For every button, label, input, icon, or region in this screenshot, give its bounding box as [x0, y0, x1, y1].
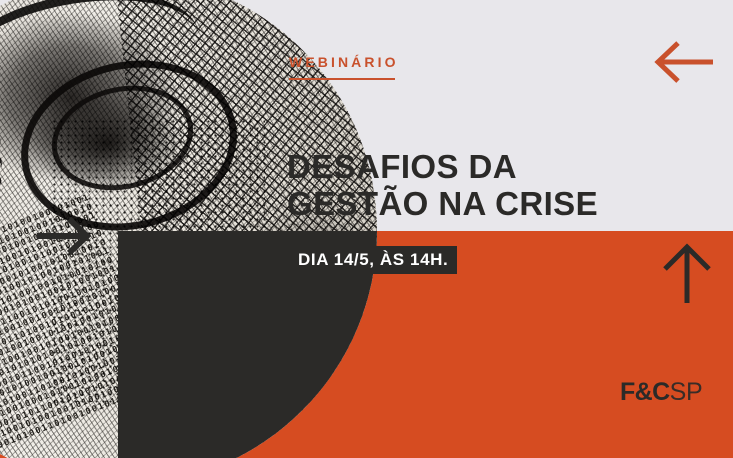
eyebrow-underline [289, 78, 395, 80]
charcoal-color-block-left [118, 231, 218, 458]
arrow-up-icon[interactable] [658, 243, 716, 305]
eyebrow-label: WEBINÁRIO [289, 53, 399, 71]
arrow-right-icon [36, 214, 94, 258]
poster-canvas: 0100101001001010010100100101001001010010… [0, 0, 733, 458]
brand-logo-secondary: SP [670, 378, 703, 406]
date-badge: DIA 14/5, ÀS 14H. [289, 246, 457, 274]
brand-logo: F&CSP [620, 378, 702, 406]
page-title: DESAFIOS DA GESTÃO NA CRISE [287, 148, 598, 222]
arrow-left-icon[interactable] [653, 38, 715, 86]
brand-logo-primary: F&C [620, 378, 670, 406]
